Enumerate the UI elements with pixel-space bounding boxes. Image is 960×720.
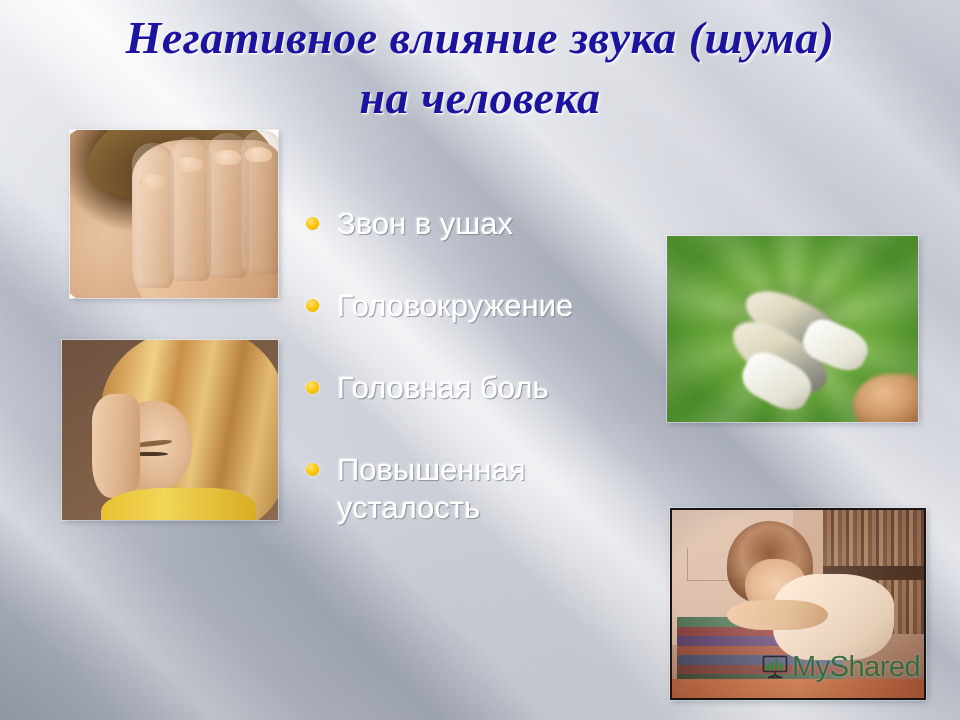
bullet-label: Повышенная усталость (337, 451, 646, 527)
bullet-dot-icon (306, 381, 319, 394)
photo-content (667, 236, 918, 422)
fingernail-shape (139, 174, 166, 189)
bullet-label: Головная боль (337, 369, 646, 407)
fingernail-shape (245, 147, 272, 162)
list-item: Звон в ушах (306, 205, 646, 243)
list-item: Головная боль (306, 369, 646, 407)
fingernail-shape (214, 150, 241, 165)
symptom-bullet-list: Звон в ушах Головокружение Головная боль… (306, 205, 646, 527)
list-item: Повышенная усталость (306, 451, 646, 527)
warm-color-cast (672, 510, 924, 698)
photo-tired-student-sleeping (670, 508, 926, 700)
list-item: Головокружение (306, 287, 646, 325)
bullet-dot-icon (306, 217, 319, 230)
slide-title: Негативное влияние звука (шума) на челов… (20, 8, 940, 128)
yellow-shirt-shape (101, 488, 257, 520)
photo-content (62, 340, 278, 520)
photo-man-covering-ear (70, 130, 278, 298)
bullet-label: Звон в ушах (337, 205, 646, 243)
fingernail-shape (176, 157, 203, 172)
presentation-slide: Негативное влияние звука (шума) на челов… (0, 0, 960, 720)
bullet-dot-icon (306, 299, 319, 312)
bullet-label: Головокружение (337, 287, 646, 325)
finger-shape (132, 143, 174, 287)
bullet-dot-icon (306, 463, 319, 476)
hand-shape (92, 394, 140, 498)
photo-content (70, 130, 278, 298)
photo-dizzy-spinning-grass (667, 236, 918, 422)
photo-content (672, 510, 924, 698)
photo-woman-headache (62, 340, 278, 520)
